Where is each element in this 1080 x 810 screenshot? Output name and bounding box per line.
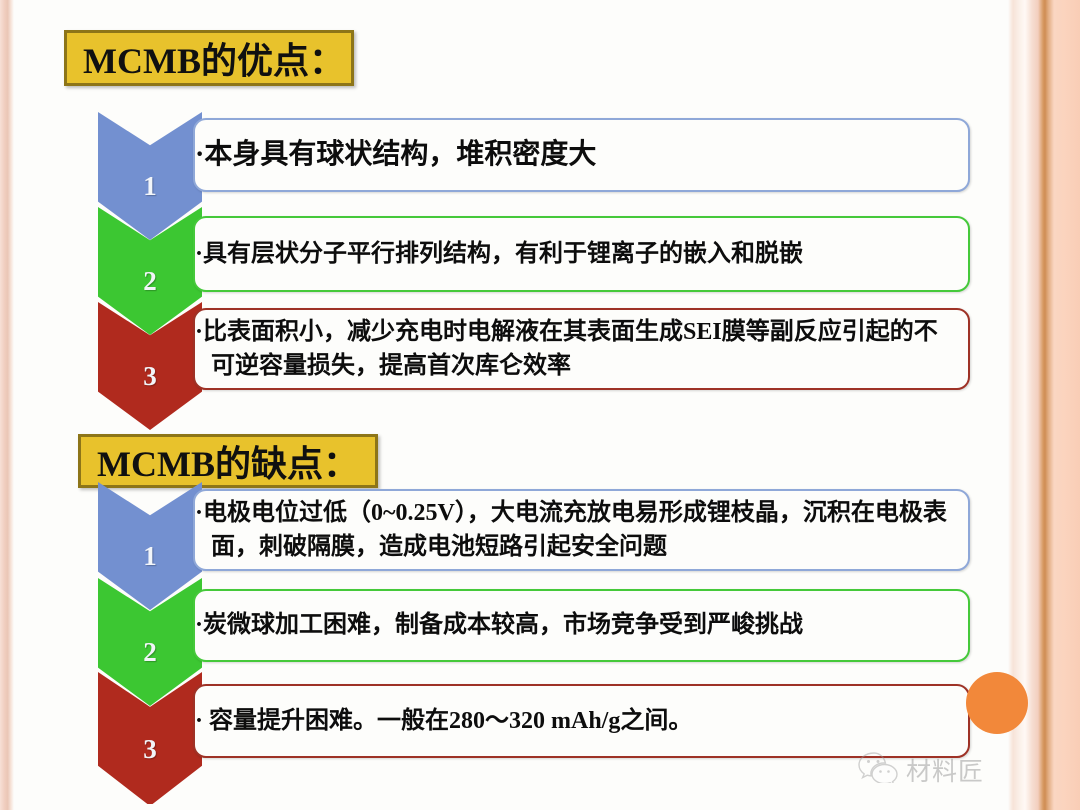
chevron-number-5: 2	[143, 637, 157, 668]
watermark: 材料匠	[858, 751, 984, 788]
content-box-cons-1: ·电极电位过低（0~0.25V），大电流充放电易形成锂枝晶，沉积在电极表面，刺破…	[193, 489, 970, 571]
bottom-edge-fade	[14, 804, 980, 810]
section-heading-cons: MCMB的缺点：	[78, 434, 378, 488]
content-box-pros-1: ·本身具有球状结构，堆积密度大	[193, 118, 970, 192]
chevron-number-2: 2	[143, 266, 157, 297]
chevron-number-4: 1	[143, 541, 157, 572]
section-heading-pros: MCMB的优点：	[64, 30, 354, 86]
chevron-number-1: 1	[143, 171, 157, 202]
slide-canvas: MCMB的优点： 1 ·本身具有球状结构，堆积密度大 2 ·具有层状分子平行排列…	[0, 0, 1080, 810]
content-box-pros-3: ·比表面积小，减少充电时电解液在其表面生成SEI膜等副反应引起的不可逆容量损失，…	[193, 308, 970, 390]
chevron-number-6: 3	[143, 734, 157, 765]
content-box-pros-1-text: ·本身具有球状结构，堆积密度大	[195, 135, 610, 175]
watermark-text: 材料匠	[906, 752, 984, 788]
section-heading-cons-text: MCMB的缺点：	[81, 435, 359, 487]
section-heading-pros-text: MCMB的优点：	[67, 32, 345, 84]
content-box-pros-2-text: ·具有层状分子平行排列结构，有利于锂离子的嵌入和脱嵌	[195, 237, 817, 271]
content-box-pros-3-text: ·比表面积小，减少充电时电解液在其表面生成SEI膜等副反应引起的不可逆容量损失，…	[195, 315, 968, 383]
chevron-number-3: 3	[143, 361, 157, 392]
content-box-pros-2: ·具有层状分子平行排列结构，有利于锂离子的嵌入和脱嵌	[193, 216, 970, 292]
content-box-cons-2-text: ·炭微球加工困难，制备成本较高，市场竞争受到严峻挑战	[195, 608, 817, 642]
content-box-cons-1-text: ·电极电位过低（0~0.25V），大电流充放电易形成锂枝晶，沉积在电极表面，刺破…	[195, 496, 968, 564]
content-box-cons-2: ·炭微球加工困难，制备成本较高，市场竞争受到严峻挑战	[193, 589, 970, 662]
wechat-icon	[858, 751, 900, 788]
left-border-stripe	[0, 0, 14, 810]
content-box-cons-3-text: · 容量提升困难。一般在280～320 mAh/g之间。	[195, 704, 706, 738]
content-box-cons-3: · 容量提升困难。一般在280～320 mAh/g之间。	[193, 684, 970, 758]
decorative-orange-circle	[966, 672, 1028, 734]
